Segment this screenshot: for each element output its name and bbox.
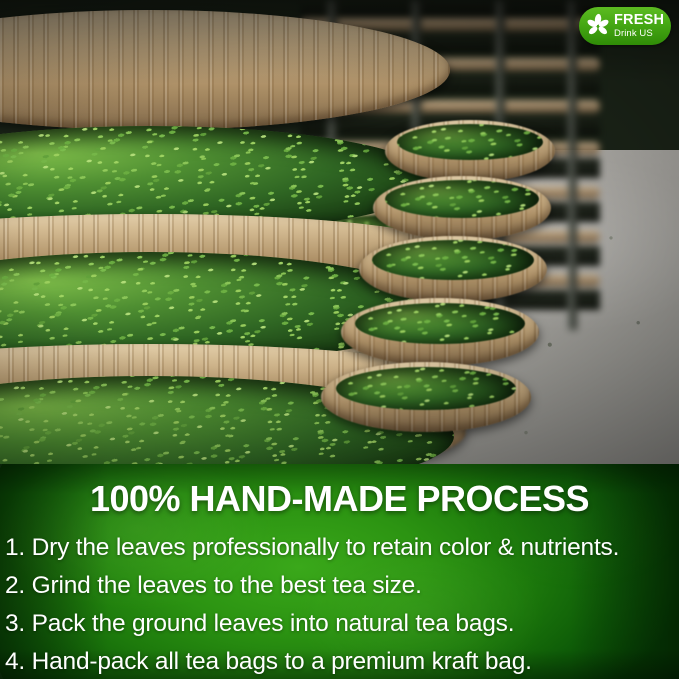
logo-title: FRESH	[614, 13, 664, 28]
product-infographic-card: FRESH Drink US 100% HAND-MADE PROCESS 1.…	[0, 0, 679, 679]
process-steps-list: 1. Dry the leaves professionally to reta…	[0, 529, 679, 679]
page-title: 100% HAND-MADE PROCESS	[0, 464, 679, 520]
list-item: 4. Hand-pack all tea bags to a premium k…	[5, 643, 679, 679]
logo-subtitle: Drink US	[614, 29, 664, 39]
list-item: 2. Grind the leaves to the best tea size…	[5, 567, 679, 605]
list-item: 1. Dry the leaves professionally to reta…	[5, 529, 679, 567]
tray-column-right	[385, 120, 575, 450]
list-item: 3. Pack the ground leaves into natural t…	[5, 605, 679, 643]
leaf-cluster-icon	[584, 12, 612, 40]
tea-drying-photo	[0, 0, 679, 464]
process-banner: 100% HAND-MADE PROCESS 1. Dry the leaves…	[0, 464, 679, 679]
fresh-drink-us-logo[interactable]: FRESH Drink US	[579, 7, 671, 45]
tray-1	[0, 10, 450, 130]
